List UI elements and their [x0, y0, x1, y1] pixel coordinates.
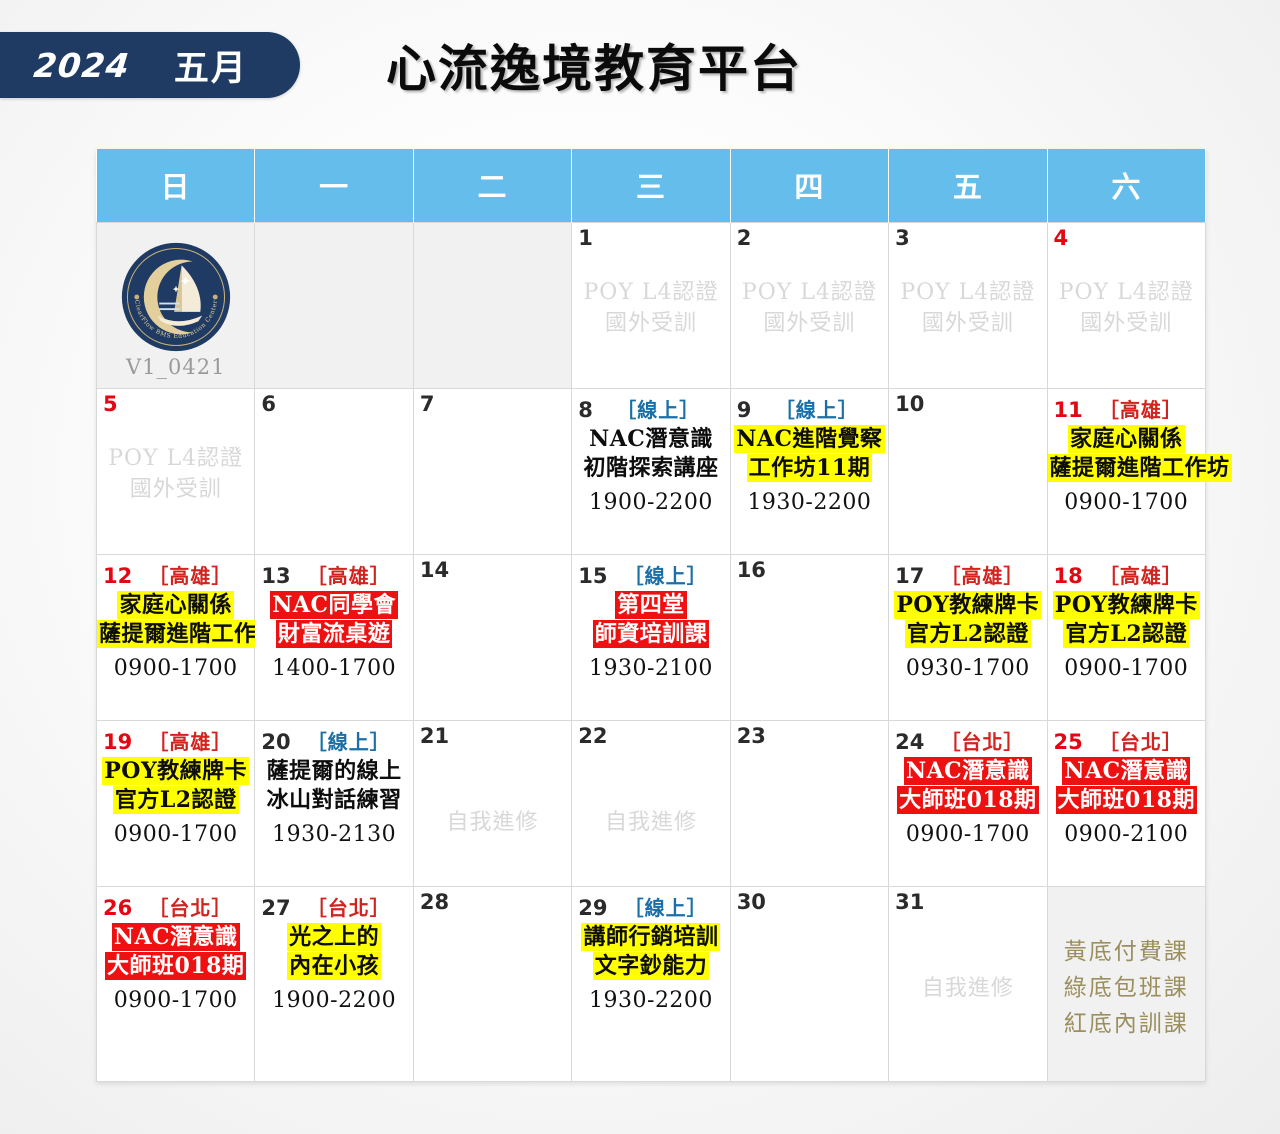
day-header: 31	[889, 890, 1046, 917]
day-number: 13	[261, 566, 290, 587]
muted-note-line-0: POY L4認證	[1048, 277, 1205, 309]
empty-cell	[413, 222, 571, 388]
event-title-line-1: 師資培訓課	[572, 620, 729, 649]
event-time: 1930-2100	[572, 654, 729, 683]
event-title-line-0: POY教練牌卡	[1048, 591, 1205, 620]
day-cell-28[interactable]: 28	[413, 886, 571, 1081]
event-title-line-0: 光之上的	[255, 923, 412, 952]
calendar-week-row: 26［台北］NAC潛意識大師班018期0900-170027［台北］光之上的內在…	[97, 886, 1206, 1081]
day-cell-1[interactable]: 1POY L4認證國外受訓	[572, 222, 730, 388]
weekday-sun: 日	[97, 149, 255, 222]
event-title-line-1: 大師班018期	[1048, 786, 1205, 815]
logo-version-label: V1_0421	[126, 355, 225, 379]
day-number: 4	[1054, 228, 1069, 249]
event-title-line-1: 大師班018期	[889, 786, 1046, 815]
event-title-line-1: 財富流桌遊	[255, 620, 412, 649]
day-header: 3	[889, 226, 1046, 253]
venue-label: ［高雄］	[132, 726, 248, 755]
day-header: 23	[731, 724, 888, 751]
calendar-grid: 日 一 二 三 四 五 六 ClearFlow BMS Educ	[96, 149, 1206, 1082]
muted-note: POY L4認證國外受訓	[572, 277, 729, 341]
event-time: 0900-2100	[1048, 820, 1205, 849]
muted-note-line-1: 國外受訓	[1048, 308, 1205, 340]
venue-label: ［線上］	[593, 394, 724, 423]
venue-label: ［線上］	[751, 394, 882, 423]
day-header: 12［高雄］	[97, 558, 254, 585]
day-number: 11	[1054, 400, 1083, 421]
day-header: 13［高雄］	[255, 558, 412, 585]
venue-label: ［線上］	[291, 726, 407, 755]
day-header: 19［高雄］	[97, 724, 254, 751]
event-title-line-1: 薩提爾進階工作坊	[1048, 454, 1205, 483]
venue-label: ［線上］	[608, 560, 724, 589]
day-cell-17[interactable]: 17［高雄］POY教練牌卡官方L2認證0930-1700	[889, 554, 1047, 720]
day-cell-21[interactable]: 21自我進修	[413, 720, 571, 886]
day-header: 6	[255, 392, 412, 419]
event-title-line-0: POY教練牌卡	[97, 757, 254, 786]
day-header: 16	[731, 558, 888, 585]
day-header: 24［台北］	[889, 724, 1046, 751]
day-header: 7	[414, 392, 571, 419]
day-number: 24	[895, 732, 924, 753]
day-number: 16	[737, 560, 766, 581]
day-cell-24[interactable]: 24［台北］NAC潛意識大師班018期0900-1700	[889, 720, 1047, 886]
event-title-line-0: 第四堂	[572, 591, 729, 620]
event-title-line-0: NAC潛意識	[889, 757, 1046, 786]
day-number: 21	[420, 726, 449, 747]
event-title-line-0: NAC潛意識	[572, 425, 729, 454]
venue-label: ［台北］	[132, 892, 248, 921]
day-header: 26［台北］	[97, 890, 254, 917]
muted-note-line-0: POY L4認證	[572, 277, 729, 309]
event-title-line-0: NAC同學會	[255, 591, 412, 620]
event-time: 1900-2200	[572, 488, 729, 517]
day-cell-8[interactable]: 8［線上］NAC潛意識初階探索講座1900-2200	[572, 388, 730, 554]
muted-note-line-1: 國外受訓	[97, 474, 254, 506]
day-cell-29[interactable]: 29［線上］講師行銷培訓文字鈔能力1930-2200	[572, 886, 730, 1081]
day-cell-4[interactable]: 4POY L4認證國外受訓	[1047, 222, 1205, 388]
weekday-sat: 六	[1047, 149, 1205, 222]
event-title-line-1: 工作坊11期	[731, 454, 888, 483]
day-cell-9[interactable]: 9［線上］NAC進階覺察工作坊11期1930-2200	[730, 388, 888, 554]
day-cell-5[interactable]: 5POY L4認證國外受訓	[97, 388, 255, 554]
event-title-line-0: NAC潛意識	[1048, 757, 1205, 786]
badge-month: 五月	[174, 40, 248, 91]
day-header: 2	[731, 226, 888, 253]
event-block[interactable]: NAC潛意識大師班018期0900-2100	[1048, 757, 1205, 850]
event-title-line-1: 官方L2認證	[1048, 620, 1205, 649]
muted-note-line-0: POY L4認證	[731, 277, 888, 309]
day-number: 31	[895, 892, 924, 913]
muted-note-line-0: POY L4認證	[889, 277, 1046, 309]
weekday-tue: 二	[413, 149, 571, 222]
venue-label: ［高雄］	[1083, 560, 1199, 589]
day-cell-26[interactable]: 26［台北］NAC潛意識大師班018期0900-1700	[97, 886, 255, 1081]
venue-label: ［高雄］	[1083, 394, 1199, 423]
event-block[interactable]: 講師行銷培訓文字鈔能力1930-2200	[572, 923, 729, 1016]
logo-cell: ClearFlow BMS Education Center V1_0421	[97, 222, 255, 388]
venue-label: ［台北］	[924, 726, 1040, 755]
day-header: 30	[731, 890, 888, 917]
day-cell-18[interactable]: 18［高雄］POY教練牌卡官方L2認證0900-1700	[1047, 554, 1205, 720]
day-cell-25[interactable]: 25［台北］NAC潛意識大師班018期0900-2100	[1047, 720, 1205, 886]
event-time: 1400-1700	[255, 654, 412, 683]
muted-note: POY L4認證國外受訓	[731, 277, 888, 341]
day-cell-30[interactable]: 30	[730, 886, 888, 1081]
event-title-line-0: NAC進階覺察	[731, 425, 888, 454]
day-number: 19	[103, 732, 132, 753]
legend-line-0: 黃底付費課	[1064, 932, 1189, 966]
day-cell-20[interactable]: 20［線上］薩提爾的線上冰山對話練習1930-2130	[255, 720, 413, 886]
muted-note-line-0: POY L4認證	[97, 443, 254, 475]
day-number: 22	[578, 726, 607, 747]
event-title-line-1: 官方L2認證	[889, 620, 1046, 649]
page-header: 2024 五月 心流逸境教育平台	[0, 0, 1280, 130]
day-cell-16[interactable]: 16	[730, 554, 888, 720]
muted-note-line-1: 國外受訓	[889, 308, 1046, 340]
day-header: 10	[889, 392, 1046, 419]
day-number: 7	[420, 394, 435, 415]
day-number: 2	[737, 228, 752, 249]
muted-note: POY L4認證國外受訓	[889, 277, 1046, 341]
day-cell-6[interactable]: 6	[255, 388, 413, 554]
legend-cell: 黃底付費課綠底包班課紅底內訓課	[1047, 886, 1205, 1081]
day-header: 1	[572, 226, 729, 253]
event-time: 0900-1700	[97, 654, 254, 683]
day-number: 30	[737, 892, 766, 913]
day-number: 9	[737, 400, 752, 421]
day-header: 4	[1048, 226, 1205, 253]
venue-label: ［台北］	[1083, 726, 1199, 755]
event-block[interactable]: NAC潛意識大師班018期0900-1700	[889, 757, 1046, 850]
event-time: 0900-1700	[97, 820, 254, 849]
event-title-line-0: POY教練牌卡	[889, 591, 1046, 620]
day-cell-2[interactable]: 2POY L4認證國外受訓	[730, 222, 888, 388]
day-header: 28	[414, 890, 571, 917]
event-block[interactable]: NAC潛意識初階探索講座1900-2200	[572, 425, 729, 518]
day-cell-22[interactable]: 22自我進修	[572, 720, 730, 886]
weekday-mon: 一	[255, 149, 413, 222]
calendar-body: ClearFlow BMS Education Center V1_0421 1…	[97, 222, 1206, 1081]
event-block[interactable]: 光之上的內在小孩1900-2200	[255, 923, 412, 1016]
event-block[interactable]: 家庭心關係薩提爾進階工作坊0900-1700	[1048, 425, 1205, 518]
clearflow-logo-icon: ClearFlow BMS Education Center	[120, 241, 232, 353]
day-number: 23	[737, 726, 766, 747]
page-title: 心流逸境教育平台	[386, 29, 802, 101]
day-number: 8	[578, 400, 593, 421]
day-header: 22	[572, 724, 729, 751]
day-number: 26	[103, 898, 132, 919]
day-cell-10[interactable]: 10	[889, 388, 1047, 554]
weekday-fri: 五	[889, 149, 1047, 222]
legend-line-2: 紅底內訓課	[1064, 1004, 1189, 1038]
event-block[interactable]: NAC進階覺察工作坊11期1930-2200	[731, 425, 888, 518]
badge-year: 2024	[32, 46, 132, 85]
venue-label: ［高雄］	[291, 560, 407, 589]
day-cell-14[interactable]: 14	[413, 554, 571, 720]
event-block[interactable]: 第四堂師資培訓課1930-2100	[572, 591, 729, 684]
day-header: 9［線上］	[731, 392, 888, 419]
empty-cell	[255, 222, 413, 388]
event-time: 0930-1700	[889, 654, 1046, 683]
weekday-header-row: 日 一 二 三 四 五 六	[97, 149, 1206, 222]
event-title-line-1: 內在小孩	[255, 952, 412, 981]
muted-note-line-1: 國外受訓	[572, 308, 729, 340]
event-time: 1930-2200	[572, 986, 729, 1015]
day-header: 18［高雄］	[1048, 558, 1205, 585]
event-block[interactable]: POY教練牌卡官方L2認證0900-1700	[1048, 591, 1205, 684]
event-block[interactable]: NAC潛意識大師班018期0900-1700	[97, 923, 254, 1016]
muted-note-line-0: 自我進修	[414, 807, 571, 839]
event-title-line-0: 講師行銷培訓	[572, 923, 729, 952]
venue-label: ［高雄］	[132, 560, 248, 589]
muted-note-line-0: 自我進修	[889, 973, 1046, 1005]
event-title-line-0: 家庭心關係	[1048, 425, 1205, 454]
day-header: 20［線上］	[255, 724, 412, 751]
day-cell-15[interactable]: 15［線上］第四堂師資培訓課1930-2100	[572, 554, 730, 720]
day-header: 21	[414, 724, 571, 751]
event-time: 0900-1700	[889, 820, 1046, 849]
day-number: 17	[895, 566, 924, 587]
day-number: 25	[1054, 732, 1083, 753]
day-cell-31[interactable]: 31自我進修	[889, 886, 1047, 1081]
day-number: 10	[895, 394, 924, 415]
muted-note: 自我進修	[572, 807, 729, 839]
venue-label: ［台北］	[291, 892, 407, 921]
day-number: 28	[420, 892, 449, 913]
calendar-week-row: 19［高雄］POY教練牌卡官方L2認證0900-170020［線上］薩提爾的線上…	[97, 720, 1206, 886]
event-title-line-0: NAC潛意識	[97, 923, 254, 952]
day-header: 25［台北］	[1048, 724, 1205, 751]
day-number: 15	[578, 566, 607, 587]
day-cell-27[interactable]: 27［台北］光之上的內在小孩1900-2200	[255, 886, 413, 1081]
day-cell-12[interactable]: 12［高雄］家庭心關係薩提爾進階工作坊0900-1700	[97, 554, 255, 720]
weekday-wed: 三	[572, 149, 730, 222]
event-title-line-1: 大師班018期	[97, 952, 254, 981]
event-block[interactable]: POY教練牌卡官方L2認證0930-1700	[889, 591, 1046, 684]
event-title-line-1: 冰山對話練習	[255, 786, 412, 815]
day-number: 29	[578, 898, 607, 919]
muted-note: POY L4認證國外受訓	[97, 443, 254, 507]
day-cell-7[interactable]: 7	[413, 388, 571, 554]
event-time: 0900-1700	[1048, 488, 1205, 517]
event-block[interactable]: NAC同學會財富流桌遊1400-1700	[255, 591, 412, 684]
day-cell-23[interactable]: 23	[730, 720, 888, 886]
day-cell-13[interactable]: 13［高雄］NAC同學會財富流桌遊1400-1700	[255, 554, 413, 720]
event-block[interactable]: POY教練牌卡官方L2認證0900-1700	[97, 757, 254, 850]
day-cell-11[interactable]: 11［高雄］家庭心關係薩提爾進階工作坊0900-1700	[1047, 388, 1205, 554]
event-block[interactable]: 家庭心關係薩提爾進階工作坊0900-1700	[97, 591, 254, 684]
day-number: 20	[261, 732, 290, 753]
muted-note-line-1: 國外受訓	[731, 308, 888, 340]
event-title-line-1: 官方L2認證	[97, 786, 254, 815]
weekday-thu: 四	[730, 149, 888, 222]
muted-note-line-0: 自我進修	[572, 807, 729, 839]
venue-label: ［線上］	[608, 892, 724, 921]
day-number: 18	[1054, 566, 1083, 587]
muted-note: 自我進修	[889, 973, 1046, 1005]
event-time: 0900-1700	[97, 986, 254, 1015]
day-header: 29［線上］	[572, 890, 729, 917]
event-title-line-1: 文字鈔能力	[572, 952, 729, 981]
event-time: 1930-2130	[255, 820, 412, 849]
muted-note: 自我進修	[414, 807, 571, 839]
day-number: 5	[103, 394, 118, 415]
legend-line-1: 綠底包班課	[1064, 968, 1189, 1002]
day-number: 3	[895, 228, 910, 249]
event-block[interactable]: 薩提爾的線上冰山對話練習1930-2130	[255, 757, 412, 850]
event-title-line-1: 初階探索講座	[572, 454, 729, 483]
calendar-week-row: 12［高雄］家庭心關係薩提爾進階工作坊0900-170013［高雄］NAC同學會…	[97, 554, 1206, 720]
day-number: 6	[261, 394, 276, 415]
month-badge: 2024 五月	[0, 32, 300, 98]
day-header: 14	[414, 558, 571, 585]
day-number: 27	[261, 898, 290, 919]
event-time: 1900-2200	[255, 986, 412, 1015]
day-header: 17［高雄］	[889, 558, 1046, 585]
event-title-line-0: 家庭心關係	[97, 591, 254, 620]
day-number: 1	[578, 228, 593, 249]
event-title-line-1: 薩提爾進階工作坊	[97, 620, 254, 649]
day-header: 15［線上］	[572, 558, 729, 585]
venue-label: ［高雄］	[924, 560, 1040, 589]
event-time: 0900-1700	[1048, 654, 1205, 683]
day-number: 12	[103, 566, 132, 587]
day-header: 5	[97, 392, 254, 419]
day-number: 14	[420, 560, 449, 581]
calendar-week-row: 5POY L4認證國外受訓678［線上］NAC潛意識初階探索講座1900-220…	[97, 388, 1206, 554]
muted-note: POY L4認證國外受訓	[1048, 277, 1205, 341]
calendar-week-row: ClearFlow BMS Education Center V1_0421 1…	[97, 222, 1206, 388]
event-title-line-0: 薩提爾的線上	[255, 757, 412, 786]
day-cell-3[interactable]: 3POY L4認證國外受訓	[889, 222, 1047, 388]
day-header: 27［台北］	[255, 890, 412, 917]
day-header: 8［線上］	[572, 392, 729, 419]
day-cell-19[interactable]: 19［高雄］POY教練牌卡官方L2認證0900-1700	[97, 720, 255, 886]
event-time: 1930-2200	[731, 488, 888, 517]
day-header: 11［高雄］	[1048, 392, 1205, 419]
